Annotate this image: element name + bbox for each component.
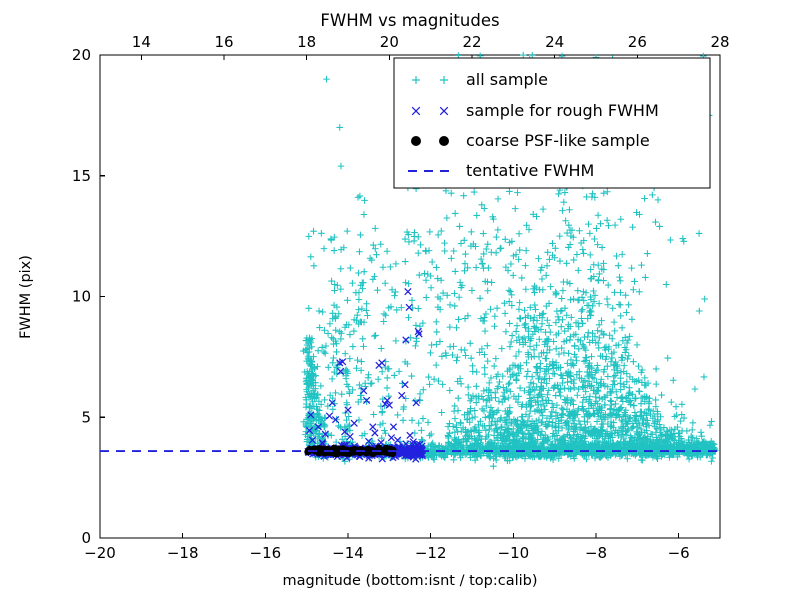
legend-label: coarse PSF-like sample	[466, 131, 650, 150]
y-tick-label: 20	[72, 46, 91, 64]
x-tick-label-top: 22	[462, 33, 481, 51]
y-tick-label: 10	[72, 288, 91, 306]
figure-canvas: −20−18−16−14−12−10−8−6 1416182022242628 …	[0, 0, 800, 600]
x-tick-label: −14	[332, 544, 364, 562]
legend-label: sample for rough FWHM	[466, 101, 659, 120]
legend-label: all sample	[466, 70, 548, 89]
x-tick-label-top: 24	[545, 33, 564, 51]
x-axis-label: magnitude (bottom:isnt / top:calib)	[282, 573, 537, 589]
x-axis-bottom-ticks: −20−18−16−14−12−10−8−6	[84, 533, 690, 562]
y-tick-label: 15	[72, 167, 91, 185]
x-tick-label-top: 16	[214, 33, 233, 51]
x-tick-label-top: 18	[297, 33, 316, 51]
y-axis-label: FWHM (pix)	[18, 255, 34, 339]
x-axis-top-ticks: 1416182022242628	[132, 33, 730, 60]
x-tick-label: −10	[498, 544, 530, 562]
x-tick-label-top: 20	[380, 33, 399, 51]
x-tick-label-top: 28	[710, 33, 729, 51]
x-tick-label: −18	[167, 544, 199, 562]
x-tick-label-top: 26	[628, 33, 647, 51]
legend: all samplesample for rough FWHMcoarse PS…	[394, 58, 710, 188]
x-tick-label: −6	[668, 544, 690, 562]
x-tick-label-top: 14	[132, 33, 151, 51]
x-tick-label: −16	[250, 544, 282, 562]
y-tick-label: 0	[81, 529, 91, 547]
x-tick-label: −8	[585, 544, 607, 562]
y-tick-label: 5	[81, 408, 91, 426]
scatter-plot: −20−18−16−14−12−10−8−6 1416182022242628 …	[0, 0, 800, 600]
x-tick-label: −12	[415, 544, 447, 562]
legend-label: tentative FWHM	[466, 161, 594, 180]
chart-title: FWHM vs magnitudes	[320, 11, 499, 30]
